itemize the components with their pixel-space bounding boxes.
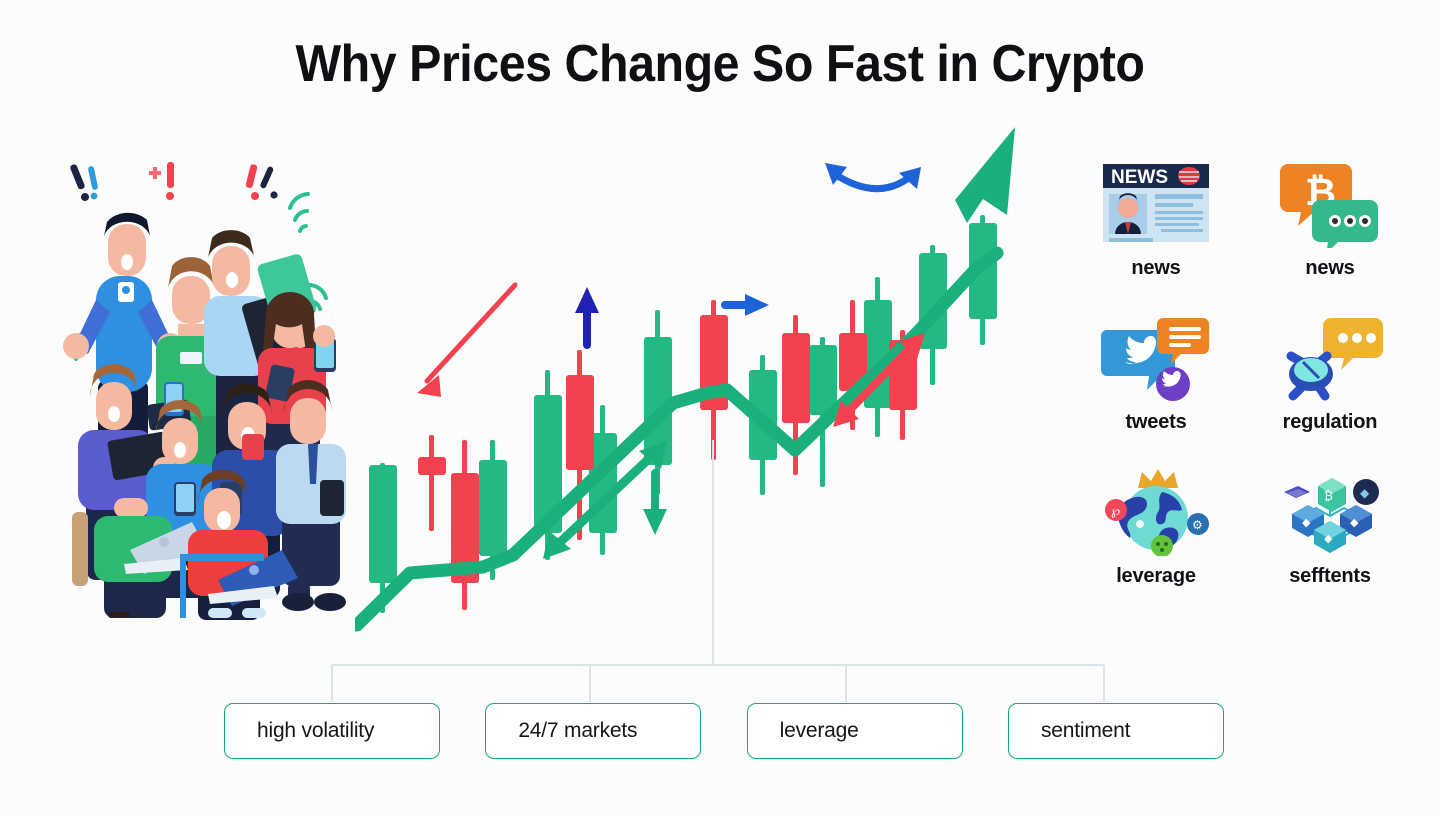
arrow-up-blue-annotation <box>575 287 599 345</box>
svg-text:NEWS: NEWS <box>1111 167 1168 188</box>
page-title: Why Prices Change So Fast in Crypto <box>50 34 1389 94</box>
icon-cell-news-paper[interactable]: NEWS <box>1078 155 1234 297</box>
newspaper-icon: NEWS <box>1096 155 1216 251</box>
tag-label: sentiment <box>1009 719 1130 743</box>
tag-sentiment[interactable]: sentiment <box>1008 703 1224 759</box>
regulation-node-icon <box>1270 309 1390 405</box>
tag-high-volatility[interactable]: high volatility <box>224 703 440 759</box>
icon-label: news <box>1131 257 1180 280</box>
arrow-curved-double-blue-annotation <box>825 163 921 189</box>
tag-label: 24/7 markets <box>486 719 637 743</box>
arrow-down-red-annotation <box>417 285 515 397</box>
connector-tree <box>0 420 1440 710</box>
arrow-right-blue-annotation <box>725 294 769 316</box>
tag-leverage[interactable]: leverage <box>747 703 963 759</box>
factor-tag-row: high volatility 24/7 markets leverage se… <box>224 702 1224 760</box>
tag-label: high volatility <box>225 719 374 743</box>
tag-label: leverage <box>748 719 859 743</box>
bitcoin-chat-bubble-icon: ₿ <box>1270 155 1390 251</box>
exclamation-marks <box>69 162 277 201</box>
twitter-bubble-icon <box>1096 309 1216 405</box>
wifi-waves <box>290 194 308 231</box>
icon-cell-news-chat[interactable]: ₿ news <box>1252 155 1408 297</box>
icon-label: news <box>1305 257 1354 280</box>
infographic-canvas: Why Prices Change So Fast in Crypto <box>0 0 1440 816</box>
tag-24-7-markets[interactable]: 24/7 markets <box>485 703 701 759</box>
